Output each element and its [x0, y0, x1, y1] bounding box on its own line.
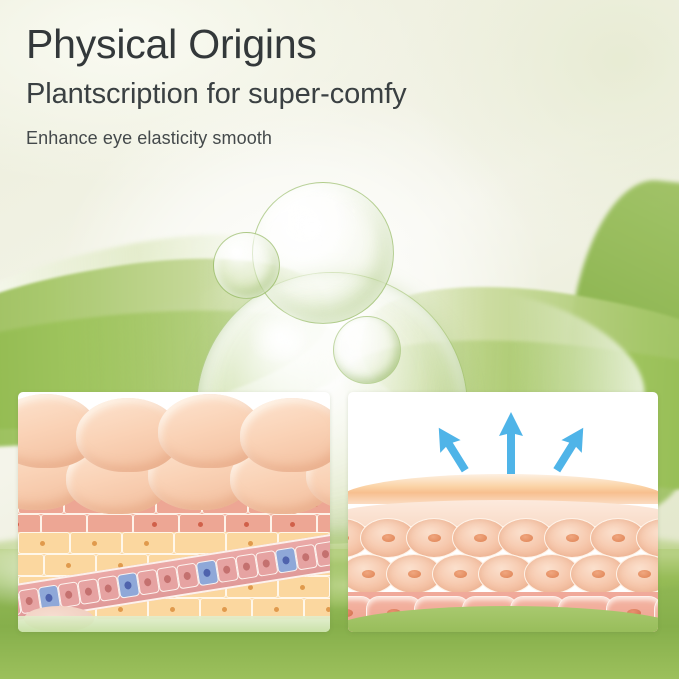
panel-skin-cross-section	[18, 392, 330, 632]
skin-cushion-surface	[18, 400, 330, 518]
page-tagline: Enhance eye elasticity smooth	[26, 128, 626, 150]
cell-nucleus	[592, 570, 605, 578]
cell-nucleus	[362, 570, 375, 578]
cell-nucleus	[428, 534, 441, 542]
cell-nucleus	[520, 534, 533, 542]
bubble-highlight-3	[225, 244, 247, 260]
product-poster: Physical Origins Plantscription for supe…	[0, 0, 679, 679]
vessel-cell-nucleus	[242, 562, 250, 571]
vessel-cell-nucleus	[203, 568, 211, 577]
cell-nucleus	[612, 534, 625, 542]
vessel-cell-nucleus	[25, 597, 33, 606]
skin-cell-brick	[41, 514, 87, 534]
vessel-cell-nucleus	[45, 593, 53, 602]
vessel-cell-nucleus	[65, 590, 73, 599]
panel-skin-lifting	[348, 392, 658, 632]
vessel-cell-nucleus	[262, 559, 270, 568]
cell-nucleus	[638, 570, 651, 578]
arrow-right-icon	[544, 420, 596, 478]
vessel-cell	[314, 541, 330, 568]
cell-nucleus	[348, 534, 349, 542]
bubble-highlight-2	[288, 210, 336, 244]
skin-puff	[240, 398, 330, 472]
skin-cell-brick	[18, 514, 41, 534]
cell-nucleus	[382, 534, 395, 542]
cell-nucleus	[454, 570, 467, 578]
vessel-cell-nucleus	[163, 575, 171, 584]
skin-cell-brick	[18, 554, 44, 576]
cell-nucleus	[500, 570, 513, 578]
cell-nucleus	[348, 609, 353, 617]
vessel-cell-nucleus	[183, 571, 191, 580]
vessel-cell-nucleus	[84, 587, 92, 596]
heading-group: Physical Origins Plantscription for supe…	[26, 20, 626, 150]
page-subtitle: Plantscription for super-comfy	[26, 77, 626, 112]
vessel-cell-nucleus	[302, 553, 310, 562]
panel-bottom-green-strip	[18, 616, 330, 632]
arrow-center-icon	[494, 410, 528, 478]
page-title: Physical Origins	[26, 20, 626, 68]
cell-nucleus	[658, 534, 659, 542]
vessel-cell-nucleus	[321, 550, 329, 559]
skin-cell-brick	[317, 514, 330, 534]
cell-nucleus	[566, 534, 579, 542]
cell-nucleus	[474, 534, 487, 542]
skin-oval-cell	[636, 518, 658, 558]
vessel-cell-nucleus	[282, 556, 290, 565]
skin-cell-brick	[87, 514, 133, 534]
vessel-cell-nucleus	[223, 565, 231, 574]
arrow-left-icon	[426, 420, 478, 478]
vessel-cell-nucleus	[144, 578, 152, 587]
skin-oval-cell	[616, 554, 658, 594]
cell-nucleus	[546, 570, 559, 578]
bubble-inner	[333, 316, 401, 384]
cell-nucleus	[408, 570, 421, 578]
oval-cell-row-2	[348, 554, 658, 594]
oval-cell-row-1	[348, 518, 658, 558]
bubble-small	[213, 232, 280, 299]
vessel-cell-nucleus	[124, 581, 132, 590]
bubble-highlight-1	[242, 312, 316, 362]
vessel-cell-nucleus	[104, 584, 112, 593]
